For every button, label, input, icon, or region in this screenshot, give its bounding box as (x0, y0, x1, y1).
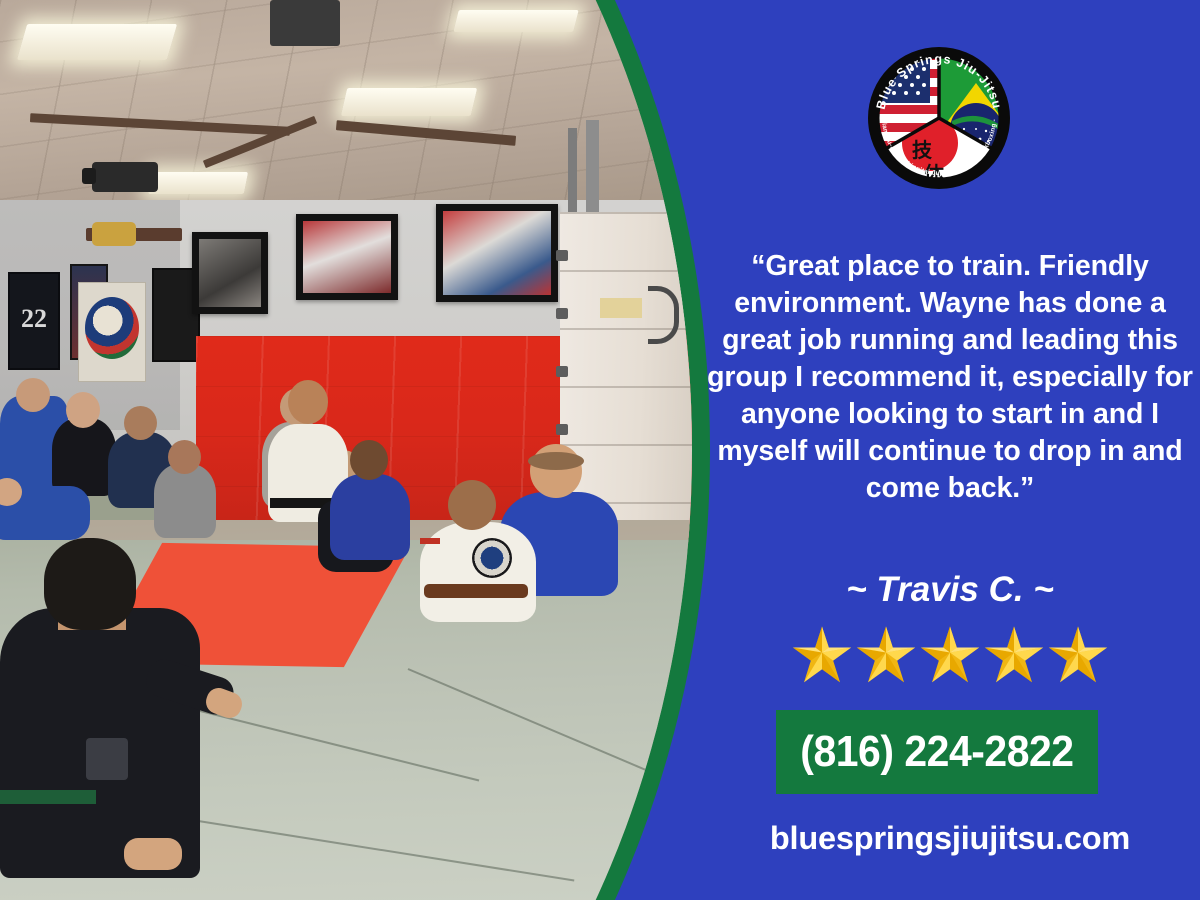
star-icon (1047, 624, 1109, 686)
gi-stripe (0, 790, 96, 804)
website-url[interactable]: bluespringsjiujitsu.com (706, 820, 1194, 857)
gym-photo-image (0, 0, 692, 900)
star-icon (791, 624, 853, 686)
gi-patch (472, 538, 512, 578)
student (330, 440, 412, 560)
poster-emblem (85, 297, 139, 359)
wall-banner (8, 272, 60, 370)
framed-photo (296, 214, 398, 300)
star-rating (706, 622, 1194, 688)
logo-icon: 心 技 体 Blue Springs Jiu-Jitsu Brazilian J… (868, 47, 1010, 189)
wall-poster (78, 282, 146, 382)
testimonial-author: ~ Travis C. ~ (706, 570, 1194, 610)
ceiling-mount (270, 0, 340, 46)
door-hardware (556, 250, 568, 261)
gym-photo-panel (0, 0, 712, 900)
wall-hook (648, 286, 679, 344)
championship-belt (92, 222, 136, 246)
framed-photo (192, 232, 268, 314)
door-hardware (556, 366, 568, 377)
gi-stripe (420, 538, 440, 544)
ceiling-light (341, 88, 477, 116)
framed-photo (436, 204, 558, 302)
phone-banner[interactable]: (816) 224-2822 (776, 710, 1098, 794)
student (0, 470, 96, 540)
ceiling-light (17, 24, 177, 60)
blue-springs-jiu-jitsu-logo[interactable]: 心 技 体 Blue Springs Jiu-Jitsu Brazilian J… (868, 47, 1010, 189)
student (420, 480, 538, 622)
star-icon (855, 624, 917, 686)
review-graphic-canvas: 心 技 体 Blue Springs Jiu-Jitsu Brazilian J… (0, 0, 1200, 900)
phone-number[interactable]: (816) 224-2822 (800, 727, 1073, 777)
ceiling-light (148, 172, 248, 194)
student (154, 440, 218, 536)
projector (92, 162, 158, 192)
door-sign (600, 298, 642, 318)
svg-text:技: 技 (912, 138, 933, 162)
door-hardware (556, 308, 568, 319)
brown-belt (424, 584, 528, 598)
foreground-student (0, 538, 206, 878)
gi-patch (86, 738, 128, 780)
ceiling-light (453, 10, 578, 32)
testimonial-quote: “Great place to train. Friendly environm… (706, 248, 1194, 507)
star-icon (983, 624, 1045, 686)
star-icon (919, 624, 981, 686)
door-hardware (556, 424, 568, 435)
